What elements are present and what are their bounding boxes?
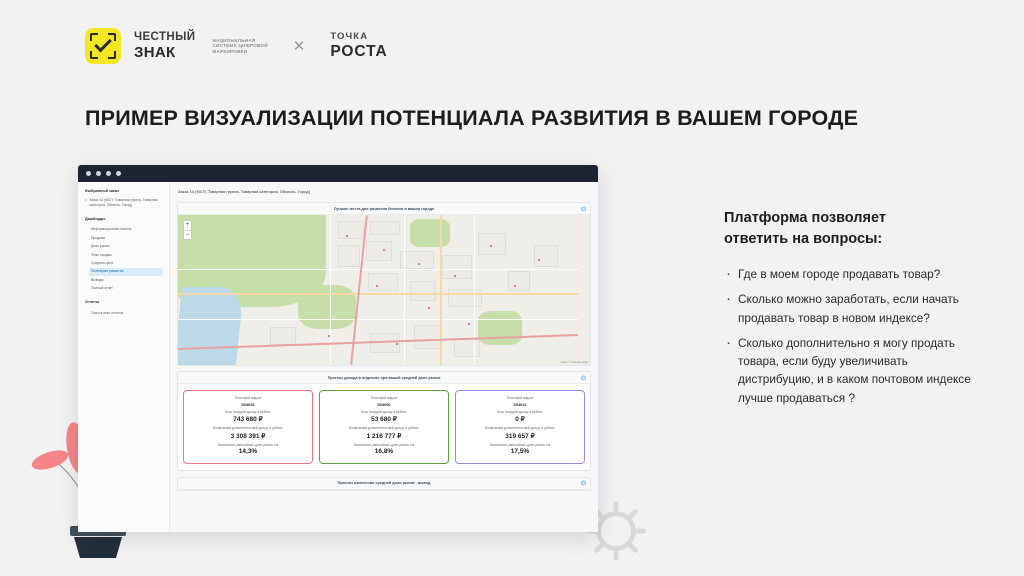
partner-wordmark: ТОЧКА РОСТА: [330, 32, 387, 60]
postal-index-label: Почтовый индекс: [459, 396, 581, 400]
window-close-icon[interactable]: [86, 171, 91, 176]
postal-index-value: 394011: [459, 402, 581, 407]
sidebar-selected-order[interactable]: • Заказ 14 (МСП, Товарная группа, Товарн…: [85, 198, 163, 209]
brand-wordmark: ЧЕСТНЫЙ ЗНАК: [134, 32, 195, 61]
window-extra-icon[interactable]: [116, 171, 121, 176]
sidebar-item-sales[interactable]: Продажи: [89, 234, 163, 242]
conclusion-panel-header: Прогноз изменения средней доли рынка - в…: [178, 478, 590, 490]
current-income-label: Ваш текущий доход, в рублях: [187, 410, 309, 414]
sidebar-item-all-reports[interactable]: Список всех отчетов: [89, 309, 163, 317]
partner-line1: ТОЧКА: [330, 32, 387, 42]
info-icon[interactable]: [581, 481, 586, 486]
bullet-icon: •: [85, 198, 86, 209]
share-increase-label: Возможное увеличение доли рынка, на: [323, 443, 445, 447]
map-zoom-controls[interactable]: + −: [183, 220, 192, 240]
question-item: Сколько дополнительно я могу продать тов…: [724, 334, 976, 407]
forecast-card[interactable]: Почтовый индекс 394050 Ваш текущий доход…: [319, 390, 449, 464]
share-increase-value: 16,8%: [323, 448, 445, 455]
window-titlebar: [78, 165, 598, 182]
sidebar-report-list: Список всех отчетов: [85, 309, 163, 317]
forecast-card[interactable]: Почтовый индекс 394033 Ваш текущий доход…: [183, 390, 313, 464]
sidebar-item-full-report[interactable]: Полный отчет: [89, 285, 163, 293]
partner-line2: РОСТА: [330, 44, 387, 60]
brand-subtitle: НАЦИОНАЛЬНАЯ СИСТЕМА ЦИФРОВОЙ МАРКИРОВКИ: [212, 38, 267, 53]
question-item: Где в моем городе продавать товар?: [724, 265, 976, 283]
questions-heading-line2: ответить на вопросы:: [724, 231, 882, 247]
brand-line1: ЧЕСТНЫЙ: [134, 32, 195, 44]
extra-income-label: Возможный дополнительный доход, в рублях: [459, 426, 581, 430]
questions-heading: Платформа позволяет ответить на вопросы:: [724, 208, 976, 250]
sidebar-item-conclusions[interactable]: Выводы: [89, 276, 163, 284]
questions-panel: Платформа позволяет ответить на вопросы:…: [724, 208, 976, 414]
share-increase-value: 14,3%: [187, 448, 309, 455]
postal-index-value: 394050: [323, 402, 445, 407]
map-water-area: [178, 287, 244, 365]
page-title: ПРИМЕР ВИЗУАЛИЗАЦИИ ПОТЕНЦИАЛА РАЗВИТИЯ …: [85, 106, 885, 131]
window-minimize-icon[interactable]: [96, 171, 101, 176]
dashboard-main: Заказ 14 (МСП, Товарная группа, Товарная…: [170, 182, 598, 532]
sidebar-item-market-share[interactable]: Доля рынка: [89, 243, 163, 251]
forecast-panel: Прогноз дохода в индексах при вашей сред…: [177, 371, 591, 471]
city-map[interactable]: + − Leaflet | © OpenStreetMap: [178, 215, 590, 365]
extra-income-value: 1 216 777 ₽: [323, 432, 445, 440]
extra-income-value: 3 308 391 ₽: [187, 432, 309, 440]
chestny-znak-logo-icon: [85, 28, 121, 64]
questions-heading-line1: Платформа позволяет: [724, 210, 886, 226]
breadcrumb: Заказ 14 (МСП, Товарная группа, Товарная…: [177, 188, 591, 197]
info-icon[interactable]: [581, 375, 586, 380]
sidebar-dashboard-list: Информационная панель Продажи Доля рынка…: [85, 226, 163, 294]
map-zoom-in-button[interactable]: +: [184, 221, 191, 230]
dashboard-screenshot-window: Выбранный заказ • Заказ 14 (МСП, Товарна…: [78, 165, 598, 532]
window-maximize-icon[interactable]: [106, 171, 111, 176]
sidebar-item-growth-potential[interactable]: Потенциал развития: [89, 268, 163, 276]
sidebar-reports-heading: Отчеты: [85, 300, 163, 306]
postal-index-label: Почтовый индекс: [187, 396, 309, 400]
current-income-value: 743 680 ₽: [187, 415, 309, 423]
question-item: Сколько можно заработать, если начать пр…: [724, 290, 976, 327]
dashboard-sidebar: Выбранный заказ • Заказ 14 (МСП, Товарна…: [78, 182, 170, 532]
share-increase-label: Возможное увеличение доли рынка, на: [187, 443, 309, 447]
share-increase-value: 17,5%: [459, 448, 581, 455]
extra-income-label: Возможный дополнительный доход, в рублях: [187, 426, 309, 430]
brand-line2: ЗНАК: [134, 45, 195, 60]
info-icon[interactable]: [581, 206, 586, 211]
forecast-card-list: Почтовый индекс 394033 Ваш текущий доход…: [178, 384, 590, 470]
map-panel: Лучшие места для развития бизнеса в ваше…: [177, 202, 591, 366]
map-panel-title: Лучшие места для развития бизнеса в ваше…: [334, 207, 434, 211]
sidebar-order-text: Заказ 14 (МСП, Товарная группа, Товарная…: [89, 198, 163, 209]
share-increase-label: Возможное увеличение доли рынка, на: [459, 443, 581, 447]
sidebar-order-heading: Выбранный заказ: [85, 189, 163, 195]
current-income-label: Ваш текущий доход, в рублях: [459, 410, 581, 414]
forecast-card[interactable]: Почтовый индекс 394011 Ваш текущий доход…: [455, 390, 585, 464]
forecast-panel-header: Прогноз дохода в индексах при вашей сред…: [178, 372, 590, 384]
sidebar-item-info-panel[interactable]: Информационная панель: [89, 226, 163, 234]
extra-income-label: Возможный дополнительный доход, в рублях: [323, 426, 445, 430]
current-income-value: 0 ₽: [459, 415, 581, 423]
sidebar-item-average-price[interactable]: Средняя цена: [89, 259, 163, 267]
postal-index-label: Почтовый индекс: [323, 396, 445, 400]
map-attribution: Leaflet | © OpenStreetMap: [561, 362, 588, 364]
map-panel-header: Лучшие места для развития бизнеса в ваше…: [178, 203, 590, 215]
logo-separator-icon: ✕: [293, 37, 306, 55]
brand-sub3: МАРКИРОВКИ: [212, 49, 267, 54]
conclusion-panel: Прогноз изменения средней доли рынка - в…: [177, 477, 591, 491]
current-income-label: Ваш текущий доход, в рублях: [323, 410, 445, 414]
sidebar-item-top-sales[interactable]: Топы продаж: [89, 251, 163, 259]
map-zoom-out-button[interactable]: −: [184, 230, 191, 240]
brand-header: ЧЕСТНЫЙ ЗНАК НАЦИОНАЛЬНАЯ СИСТЕМА ЦИФРОВ…: [85, 28, 388, 64]
sidebar-dashboards-heading: Дашборды: [85, 217, 163, 223]
postal-index-value: 394033: [187, 402, 309, 407]
extra-income-value: 319 657 ₽: [459, 432, 581, 440]
questions-list: Где в моем городе продавать товар? Сколь…: [724, 265, 976, 407]
current-income-value: 53 680 ₽: [323, 415, 445, 423]
forecast-panel-title: Прогноз дохода в индексах при вашей сред…: [328, 376, 441, 380]
conclusion-panel-title: Прогноз изменения средней доли рынка - в…: [338, 481, 431, 485]
